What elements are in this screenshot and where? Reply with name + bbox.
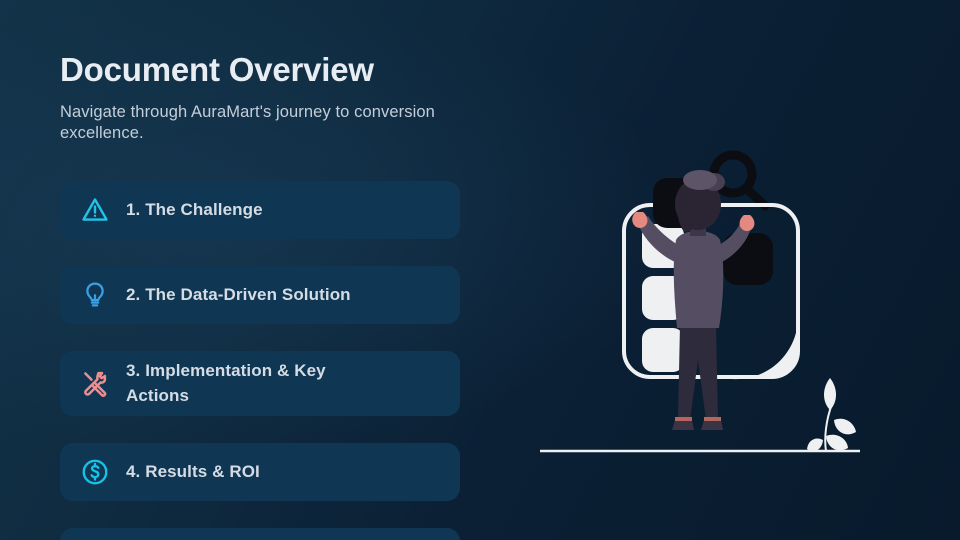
illustration-person-organizing-cards	[520, 120, 920, 480]
dollar-circle-icon	[78, 455, 112, 489]
warning-triangle-icon	[78, 193, 112, 227]
hair-band	[683, 170, 717, 190]
board-light-fill	[720, 316, 798, 379]
section-card-label: 4. Results & ROI	[126, 460, 260, 485]
page-title: Document Overview	[60, 52, 480, 89]
page-subtitle: Navigate through AuraMart's journey to c…	[60, 102, 480, 145]
section-card-5[interactable]	[60, 528, 460, 540]
light-card-3	[642, 328, 684, 372]
tools-icon	[78, 367, 112, 401]
section-card-label: 2. The Data-Driven Solution	[126, 283, 351, 308]
section-card-label: 1. The Challenge	[126, 198, 263, 223]
section-card-4[interactable]: 4. Results & ROI	[60, 443, 460, 501]
header-block: Document Overview Navigate through AuraM…	[60, 52, 480, 145]
plant-icon	[807, 378, 856, 451]
lightbulb-icon	[78, 278, 112, 312]
section-card-2[interactable]: 2. The Data-Driven Solution	[60, 266, 460, 324]
slide-root: Document Overview Navigate through AuraM…	[0, 0, 960, 540]
section-card-list: 1. The Challenge 2. The Data-Driven Solu…	[60, 181, 460, 540]
section-card-1[interactable]: 1. The Challenge	[60, 181, 460, 239]
section-card-label: 3. Implementation & Key Actions	[126, 359, 386, 408]
section-card-3[interactable]: 3. Implementation & Key Actions	[60, 351, 460, 416]
